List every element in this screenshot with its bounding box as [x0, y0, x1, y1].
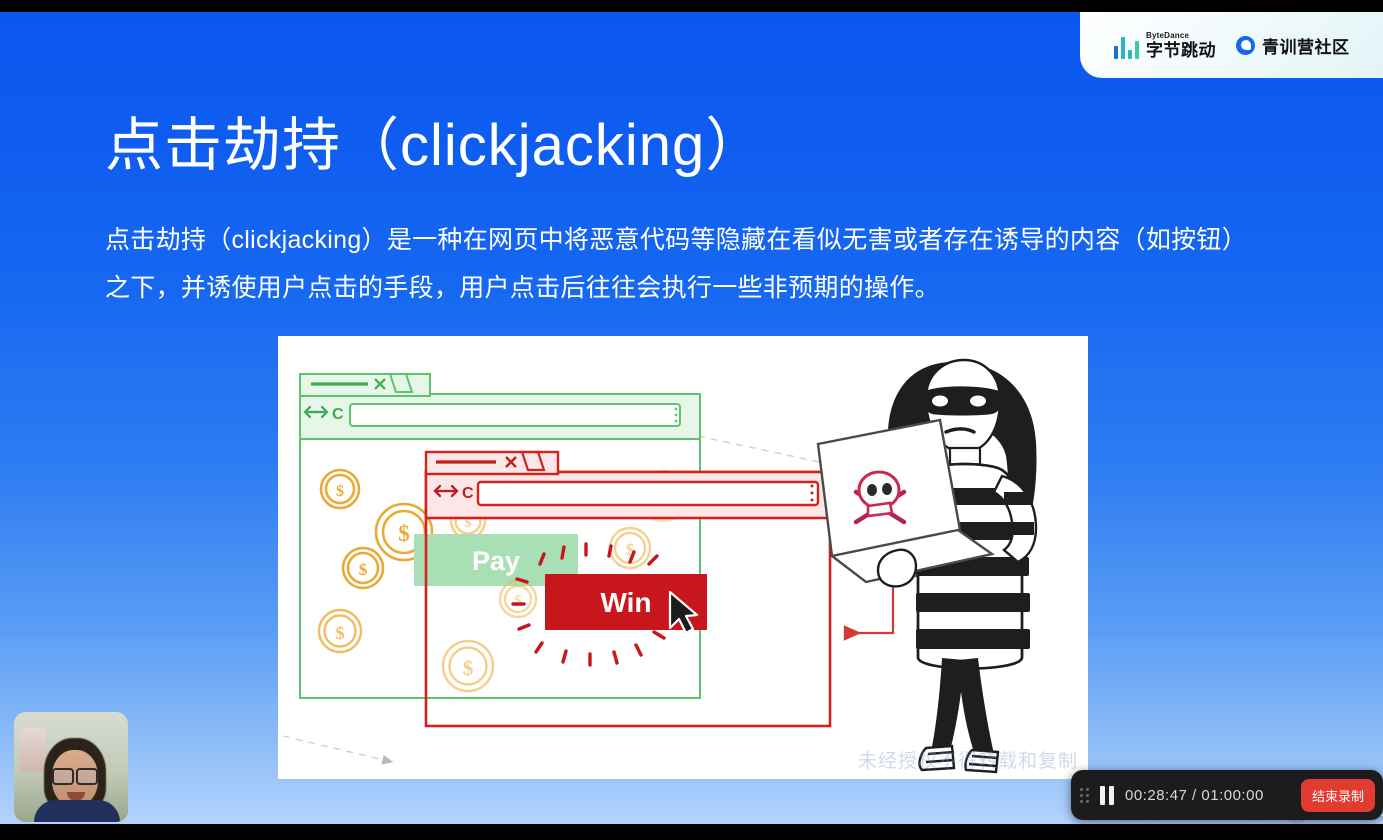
clickjacking-illustration: C $ $ — [278, 336, 1088, 779]
svg-text:$: $ — [398, 521, 410, 546]
community-label: 青训营社区 — [1262, 33, 1350, 58]
recording-toolbar[interactable]: 00:28:47 / 01:00:00 结束录制 — [1071, 770, 1383, 820]
bytedance-bars-icon — [1114, 37, 1140, 59]
svg-text:Win: Win — [600, 587, 651, 618]
svg-text:C: C — [332, 406, 344, 423]
glasses-icon — [52, 768, 98, 782]
community-logo: 青训营社区 — [1236, 33, 1350, 58]
bytedance-en-label: ByteDance — [1146, 32, 1216, 40]
bytedance-logo: ByteDance 字节跳动 — [1114, 32, 1217, 59]
brand-banner: ByteDance 字节跳动 青训营社区 — [1080, 12, 1383, 78]
presenter-torso — [34, 800, 120, 822]
illustration-svg: C $ $ — [278, 336, 1088, 779]
slide-body-text: 点击劫持（clickjacking）是一种在网页中将恶意代码等隐藏在看似无害或者… — [105, 216, 1265, 312]
svg-text:$: $ — [359, 560, 368, 579]
recording-time: 00:28:47 / 01:00:00 — [1125, 787, 1293, 804]
drag-grip-icon[interactable] — [1079, 785, 1089, 805]
presenter-camera[interactable] — [14, 712, 128, 822]
page-title: 点击劫持（clickjacking） — [105, 98, 764, 182]
bytedance-cn-label: 字节跳动 — [1146, 42, 1216, 59]
video-stage: ByteDance 字节跳动 青训营社区 点击劫持（clickjacking） … — [0, 0, 1383, 840]
svg-text:$: $ — [514, 593, 522, 609]
bytedance-wordmark: ByteDance 字节跳动 — [1146, 32, 1216, 59]
hacker-figure — [818, 360, 1036, 772]
svg-text:$: $ — [463, 656, 474, 680]
svg-text:$: $ — [336, 623, 345, 643]
qingxunying-circle-icon — [1236, 36, 1255, 55]
svg-text:Pay: Pay — [472, 546, 520, 576]
pause-icon[interactable] — [1097, 786, 1117, 805]
presentation-slide: ByteDance 字节跳动 青训营社区 点击劫持（clickjacking） … — [0, 12, 1383, 824]
svg-text:$: $ — [336, 483, 344, 500]
figure-watermark: 未经授权不得转载和复制 — [858, 746, 1078, 773]
camera-background-poster — [20, 728, 46, 772]
svg-text:C: C — [462, 485, 474, 502]
stop-recording-button[interactable]: 结束录制 — [1301, 779, 1375, 812]
